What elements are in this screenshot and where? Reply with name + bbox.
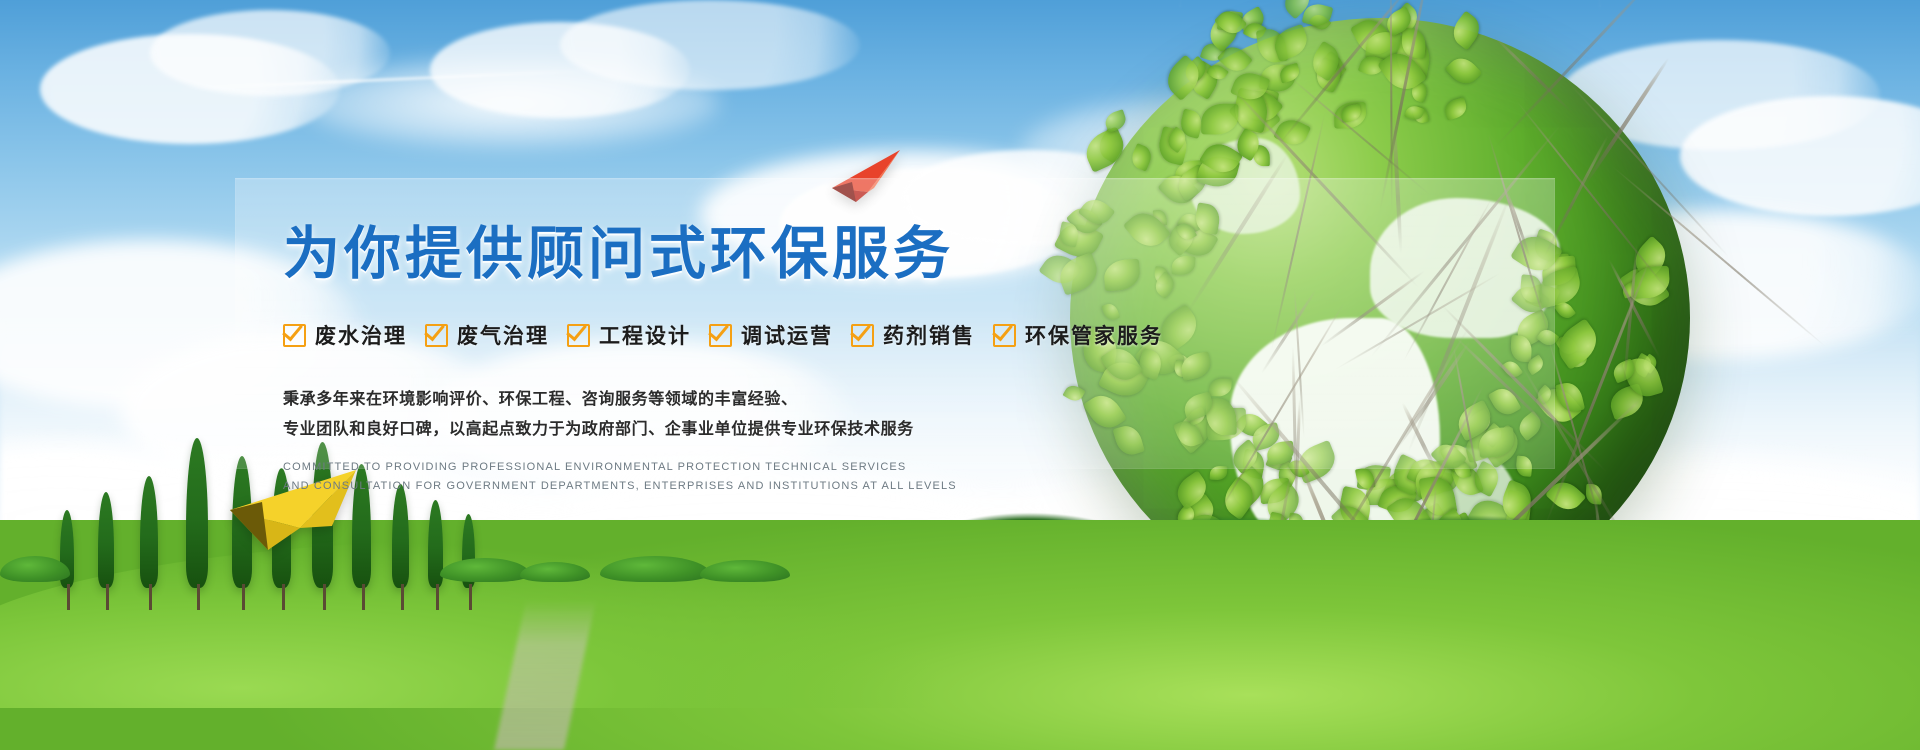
banner-content: 为你提供顾问式环保服务 废水治理废气治理工程设计调试运营药剂销售环保管家服务 秉… [283, 178, 1383, 496]
feature-label: 工程设计 [599, 320, 691, 350]
tree-trunk [242, 584, 245, 610]
tree-trunk [197, 584, 200, 610]
feature-label: 调试运营 [741, 320, 833, 350]
checkbox-checked-icon[interactable] [709, 324, 732, 347]
feature-label: 药剂销售 [883, 320, 975, 350]
feature-item[interactable]: 工程设计 [567, 320, 691, 350]
feature-label: 环保管家服务 [1025, 320, 1163, 350]
tree-trunk [436, 584, 439, 610]
checkbox-checked-icon[interactable] [993, 324, 1016, 347]
english-subtitle-line: AND CONSULTATION FOR GOVERNMENT DEPARTME… [283, 477, 1383, 496]
tree-trunk [401, 584, 404, 610]
tree-trunk [149, 584, 152, 610]
english-subtitle-line: COMMITTED TO PROVIDING PROFESSIONAL ENVI… [283, 458, 1383, 477]
tree-trunk [469, 584, 472, 610]
checkbox-checked-icon[interactable] [567, 324, 590, 347]
feature-item[interactable]: 调试运营 [709, 320, 833, 350]
description-block: 秉承多年来在环境影响评价、环保工程、咨询服务等领域的丰富经验、 专业团队和良好口… [283, 384, 1383, 444]
leaf [1103, 109, 1129, 132]
page-title: 为你提供顾问式环保服务 [283, 178, 1383, 290]
tree-trunk [67, 584, 70, 610]
tree-trunk [106, 584, 109, 610]
feature-label: 废水治理 [315, 320, 407, 350]
feature-item[interactable]: 废气治理 [425, 320, 549, 350]
feature-item[interactable]: 药剂销售 [851, 320, 975, 350]
feature-item[interactable]: 环保管家服务 [993, 320, 1163, 350]
feature-list: 废水治理废气治理工程设计调试运营药剂销售环保管家服务 [283, 320, 1383, 350]
tree-trunk [282, 584, 285, 610]
leaf [1203, 11, 1244, 52]
description-line: 秉承多年来在环境影响评价、环保工程、咨询服务等领域的丰富经验、 [283, 384, 1383, 414]
description-line: 专业团队和良好口碑，以高起点致力于为政府部门、企事业单位提供专业环保技术服务 [283, 414, 1383, 444]
hero-banner: 为你提供顾问式环保服务 废水治理废气治理工程设计调试运营药剂销售环保管家服务 秉… [0, 0, 1920, 750]
feature-label: 废气治理 [457, 320, 549, 350]
feature-item[interactable]: 废水治理 [283, 320, 407, 350]
checkbox-checked-icon[interactable] [425, 324, 448, 347]
checkbox-checked-icon[interactable] [851, 324, 874, 347]
english-subtitle-block: COMMITTED TO PROVIDING PROFESSIONAL ENVI… [283, 458, 1383, 496]
checkbox-checked-icon[interactable] [283, 324, 306, 347]
tree-trunk [323, 584, 326, 610]
tree-trunk [362, 584, 365, 610]
